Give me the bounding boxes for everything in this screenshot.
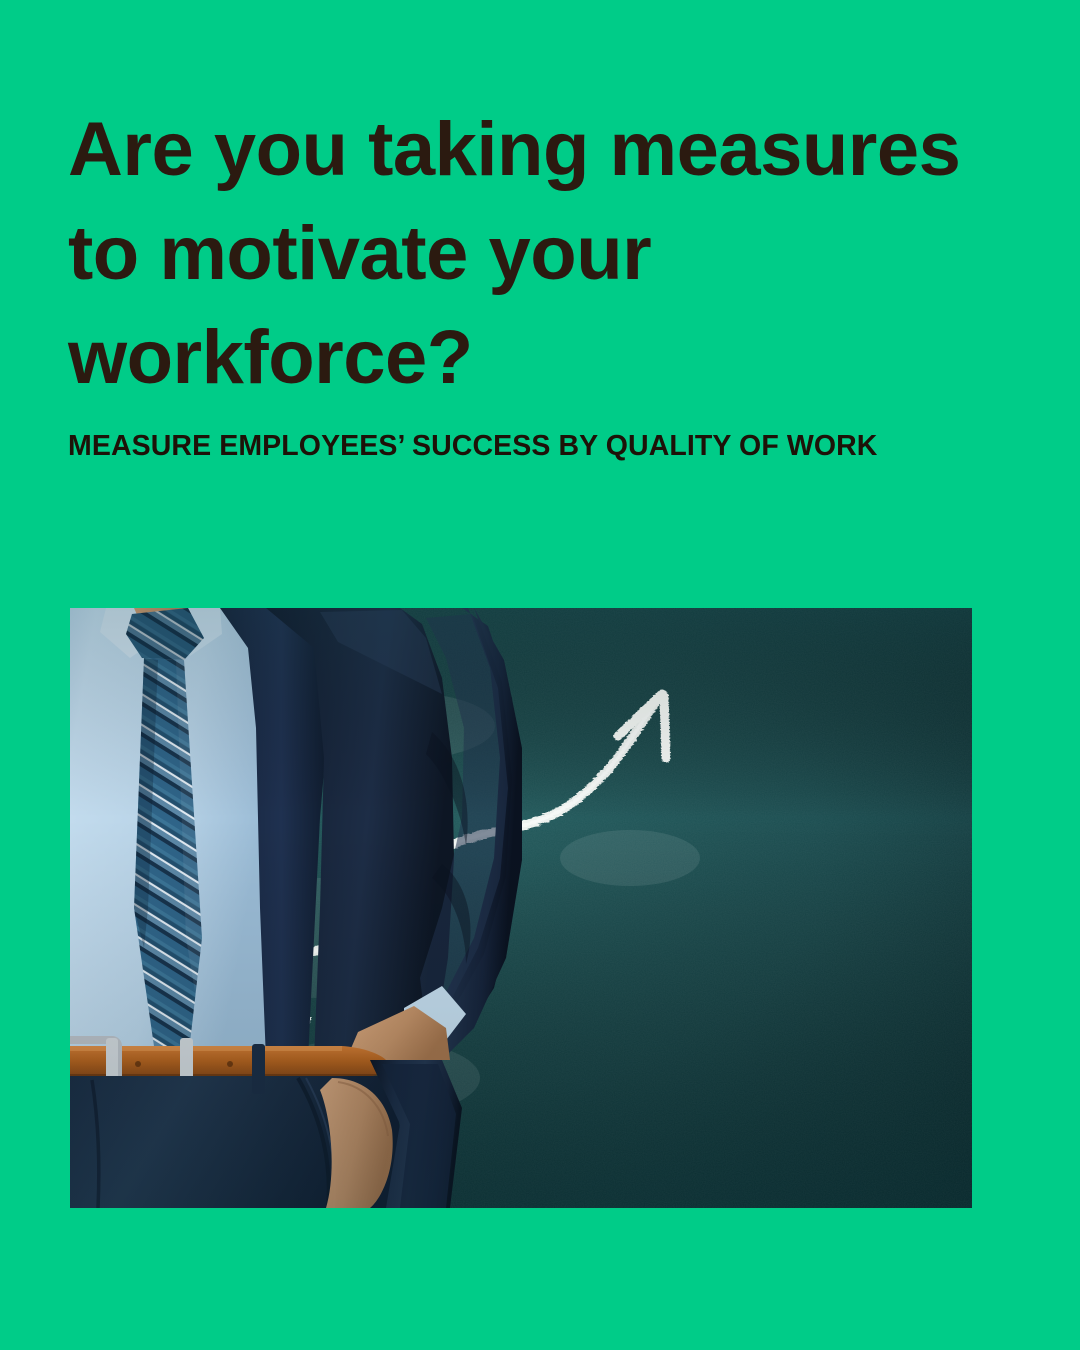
text-block: Are you taking measures to motivate your… (68, 98, 1008, 464)
photo-illustration: productivity (70, 608, 972, 1208)
belt-loop (252, 1044, 265, 1094)
page-title: Are you taking measures to motivate your… (68, 98, 1008, 410)
poster-canvas: Are you taking measures to motivate your… (0, 0, 1080, 1350)
subtitle: MEASURE EMPLOYEES’ SUCCESS BY QUALITY OF… (68, 410, 1008, 464)
hero-photo: productivity (70, 608, 972, 1208)
